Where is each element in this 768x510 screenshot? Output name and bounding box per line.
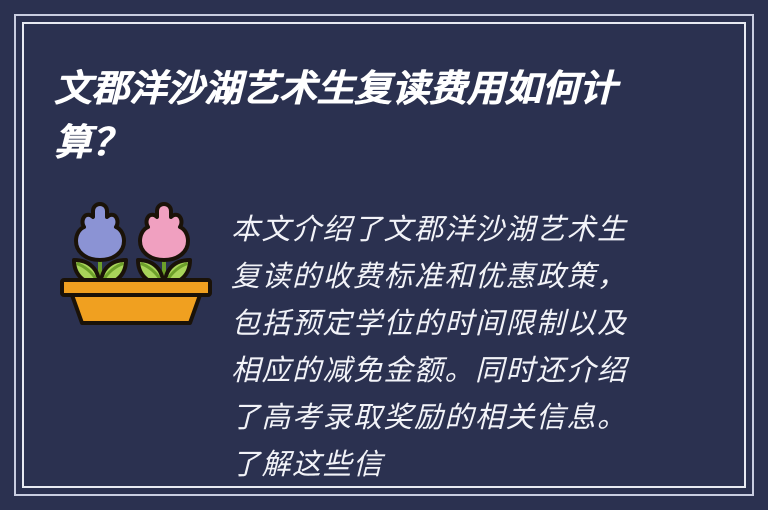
planter-rim [62, 280, 210, 295]
tulip-purple-icon [76, 204, 124, 260]
article-card: 文郡洋沙湖艺术生复读费用如何计算？ [0, 0, 768, 510]
tulip-pink-icon [140, 204, 188, 260]
planter-body [72, 295, 200, 323]
flower-box-illustration [58, 196, 214, 328]
article-summary: 本文介绍了文郡洋沙湖艺术生复读的收费标准和优惠政策，包括预定学位的时间限制以及相… [231, 206, 655, 488]
page-title: 文郡洋沙湖艺术生复读费用如何计算？ [54, 62, 654, 170]
